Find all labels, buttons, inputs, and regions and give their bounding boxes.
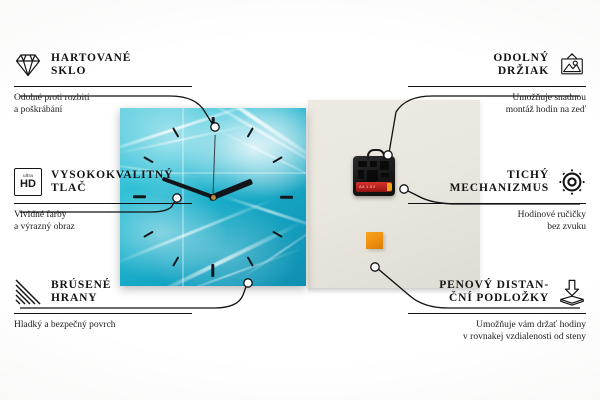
- ultra-hd-icon: ultra HD: [14, 168, 42, 196]
- feature-glass-title: HARTOVANÉ SKLO: [51, 52, 192, 79]
- feature-holder-sub: Umožňuje snadnou montáž hodin na zeď: [408, 92, 586, 116]
- feature-foam-rule: [408, 313, 586, 314]
- feature-print-title: VYSOKOKVALITNÝ TLAČ: [51, 169, 192, 196]
- clock-mechanism: AA 1.5V: [353, 156, 395, 196]
- feature-edges-rule: [14, 313, 192, 314]
- feature-mechanism: TICHÝ MECHANIZMUS Hodinové ručičky bez z…: [408, 165, 586, 233]
- diamond-icon: [14, 51, 42, 79]
- feature-foam: PENOVÝ DISTAN- ČNÍ PODLOŽKY Umožňuje vám…: [408, 275, 586, 343]
- feature-print-head: ultra HD VYSOKOKVALITNÝ TLAČ: [14, 165, 192, 199]
- feature-holder: ODOLNÝ DRŽIAK Umožňuje snadnou montáž ho…: [408, 48, 586, 116]
- picture-hanger-icon: [558, 51, 586, 79]
- feature-holder-head: ODOLNÝ DRŽIAK: [408, 48, 586, 82]
- feature-foam-head: PENOVÝ DISTAN- ČNÍ PODLOŽKY: [408, 275, 586, 309]
- feature-print: ultra HD VYSOKOKVALITNÝ TLAČ Vividné far…: [14, 165, 192, 233]
- feature-foam-title: PENOVÝ DISTAN- ČNÍ PODLOŽKY: [408, 279, 549, 306]
- clock-hub: [211, 195, 216, 200]
- press-down-icon: [558, 278, 586, 306]
- battery-tip: [387, 183, 392, 191]
- battery: AA 1.5V: [356, 182, 392, 192]
- feature-edges-head: BRÚSENÉ HRANY: [14, 275, 192, 309]
- feature-glass-rule: [14, 86, 192, 87]
- feature-print-sub: Vividné farby a výrazný obraz: [14, 209, 192, 233]
- feature-mechanism-rule: [408, 203, 586, 204]
- feature-glass-sub: Odolné proti rozbití a poškrábání: [14, 92, 192, 116]
- feature-holder-rule: [408, 86, 586, 87]
- ultra-hd-icon-hd-label: HD: [20, 179, 36, 190]
- feature-holder-title: ODOLNÝ DRŽIAK: [408, 52, 549, 79]
- feature-edges-title: BRÚSENÉ HRANY: [51, 279, 192, 306]
- foam-spacer-pad: [366, 232, 383, 249]
- battery-label: AA 1.5V: [359, 184, 376, 189]
- feature-glass: HARTOVANÉ SKLO Odolné proti rozbití a po…: [14, 48, 192, 116]
- feature-glass-head: HARTOVANÉ SKLO: [14, 48, 192, 82]
- mechanism-hook: [367, 149, 385, 160]
- feature-mechanism-title: TICHÝ MECHANIZMUS: [408, 169, 549, 196]
- feature-edges-sub: Hladký a bezpečný povrch: [14, 319, 192, 331]
- gear-icon: [558, 168, 586, 196]
- feature-edges: BRÚSENÉ HRANY Hladký a bezpečný povrch: [14, 275, 192, 331]
- feature-mechanism-head: TICHÝ MECHANIZMUS: [408, 165, 586, 199]
- infographic-canvas: AA 1.5V: [0, 0, 600, 400]
- feature-mechanism-sub: Hodinové ručičky bez zvuku: [408, 209, 586, 233]
- feature-print-rule: [14, 203, 192, 204]
- hatched-edge-icon: [14, 278, 42, 306]
- feature-foam-sub: Umožňuje vám držať hodiny v rovnakej vzd…: [408, 319, 586, 343]
